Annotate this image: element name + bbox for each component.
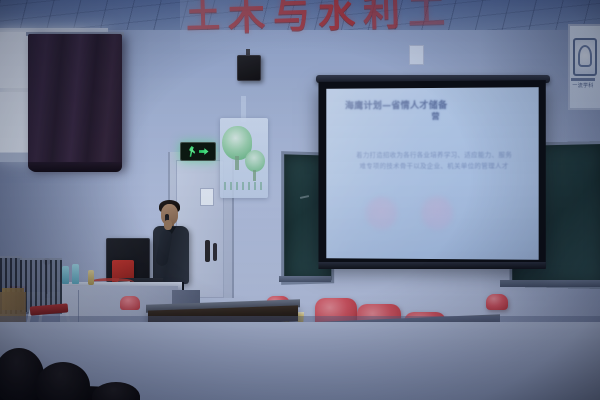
poster-logo-inner-icon (578, 45, 592, 67)
running-man-icon (188, 146, 197, 157)
poster-pattern (224, 182, 264, 190)
screen-bottom-bar (318, 262, 545, 269)
slide-title: 海鹰计划—省情人才储备 营 (345, 99, 528, 123)
tree-icon-small (245, 150, 265, 172)
chalk-tray-left (279, 276, 331, 282)
slide-shape-oval (366, 197, 398, 229)
chalk-tray-right (500, 280, 600, 287)
water-bottle (72, 264, 79, 284)
slide-title-sub: 营 (345, 112, 528, 124)
projection-screen: 海鹰计划—省情人才储备 营 着力打造招收为各行各业培养学习、适应能力、服务 难专… (318, 80, 545, 268)
chair-red (486, 294, 508, 310)
presenter-hand (164, 220, 172, 230)
door-handle-secondary[interactable] (213, 243, 217, 261)
curtain-hem (28, 162, 122, 172)
water-bottle (62, 266, 69, 284)
slide-body-line-2: 难专项的技术骨干以及企业、机关单位的管理人才 (347, 160, 521, 171)
banner-char-5: 利 (362, 0, 400, 32)
slide-body: 着力打造招收为各行各业培养学习、适应能力、服务 难专项的技术骨干以及企业、机关单… (347, 149, 521, 171)
slide-shape-oval (421, 196, 453, 230)
banner-char-1: 土 (186, 0, 221, 34)
banner-char-3: 与 (273, 0, 311, 34)
tree-trunk (235, 156, 239, 170)
banner-char-4: 水 (317, 0, 355, 33)
slide-title-main: 海鹰计划—省情人才储备 (345, 101, 447, 112)
exit-sign (180, 142, 216, 161)
door-handle[interactable] (205, 240, 210, 262)
lecture-hall-photo: 土 木 与 水 利 工 一流学科 (0, 0, 600, 400)
slide-body-line-1: 着力打造招收为各行各业培养学习、适应能力、服务 (347, 149, 521, 160)
slide-surface: 海鹰计划—省情人才储备 营 着力打造招收为各行各业培养学习、适应能力、服务 难专… (326, 87, 538, 260)
poster-caption: 一流学科 (570, 84, 596, 90)
poster-divider (571, 78, 595, 81)
wall-speaker-icon (237, 55, 261, 81)
door-window (200, 188, 214, 206)
curtain[interactable] (28, 34, 122, 170)
banner-char-2: 木 (228, 0, 266, 35)
wall-socket-plate[interactable] (409, 45, 424, 65)
tree-trunk-small (253, 170, 256, 181)
banner-char-6: 工 (407, 0, 445, 30)
water-bottle (88, 270, 94, 285)
chair-red (120, 296, 140, 310)
arrow-right-icon (199, 147, 209, 156)
